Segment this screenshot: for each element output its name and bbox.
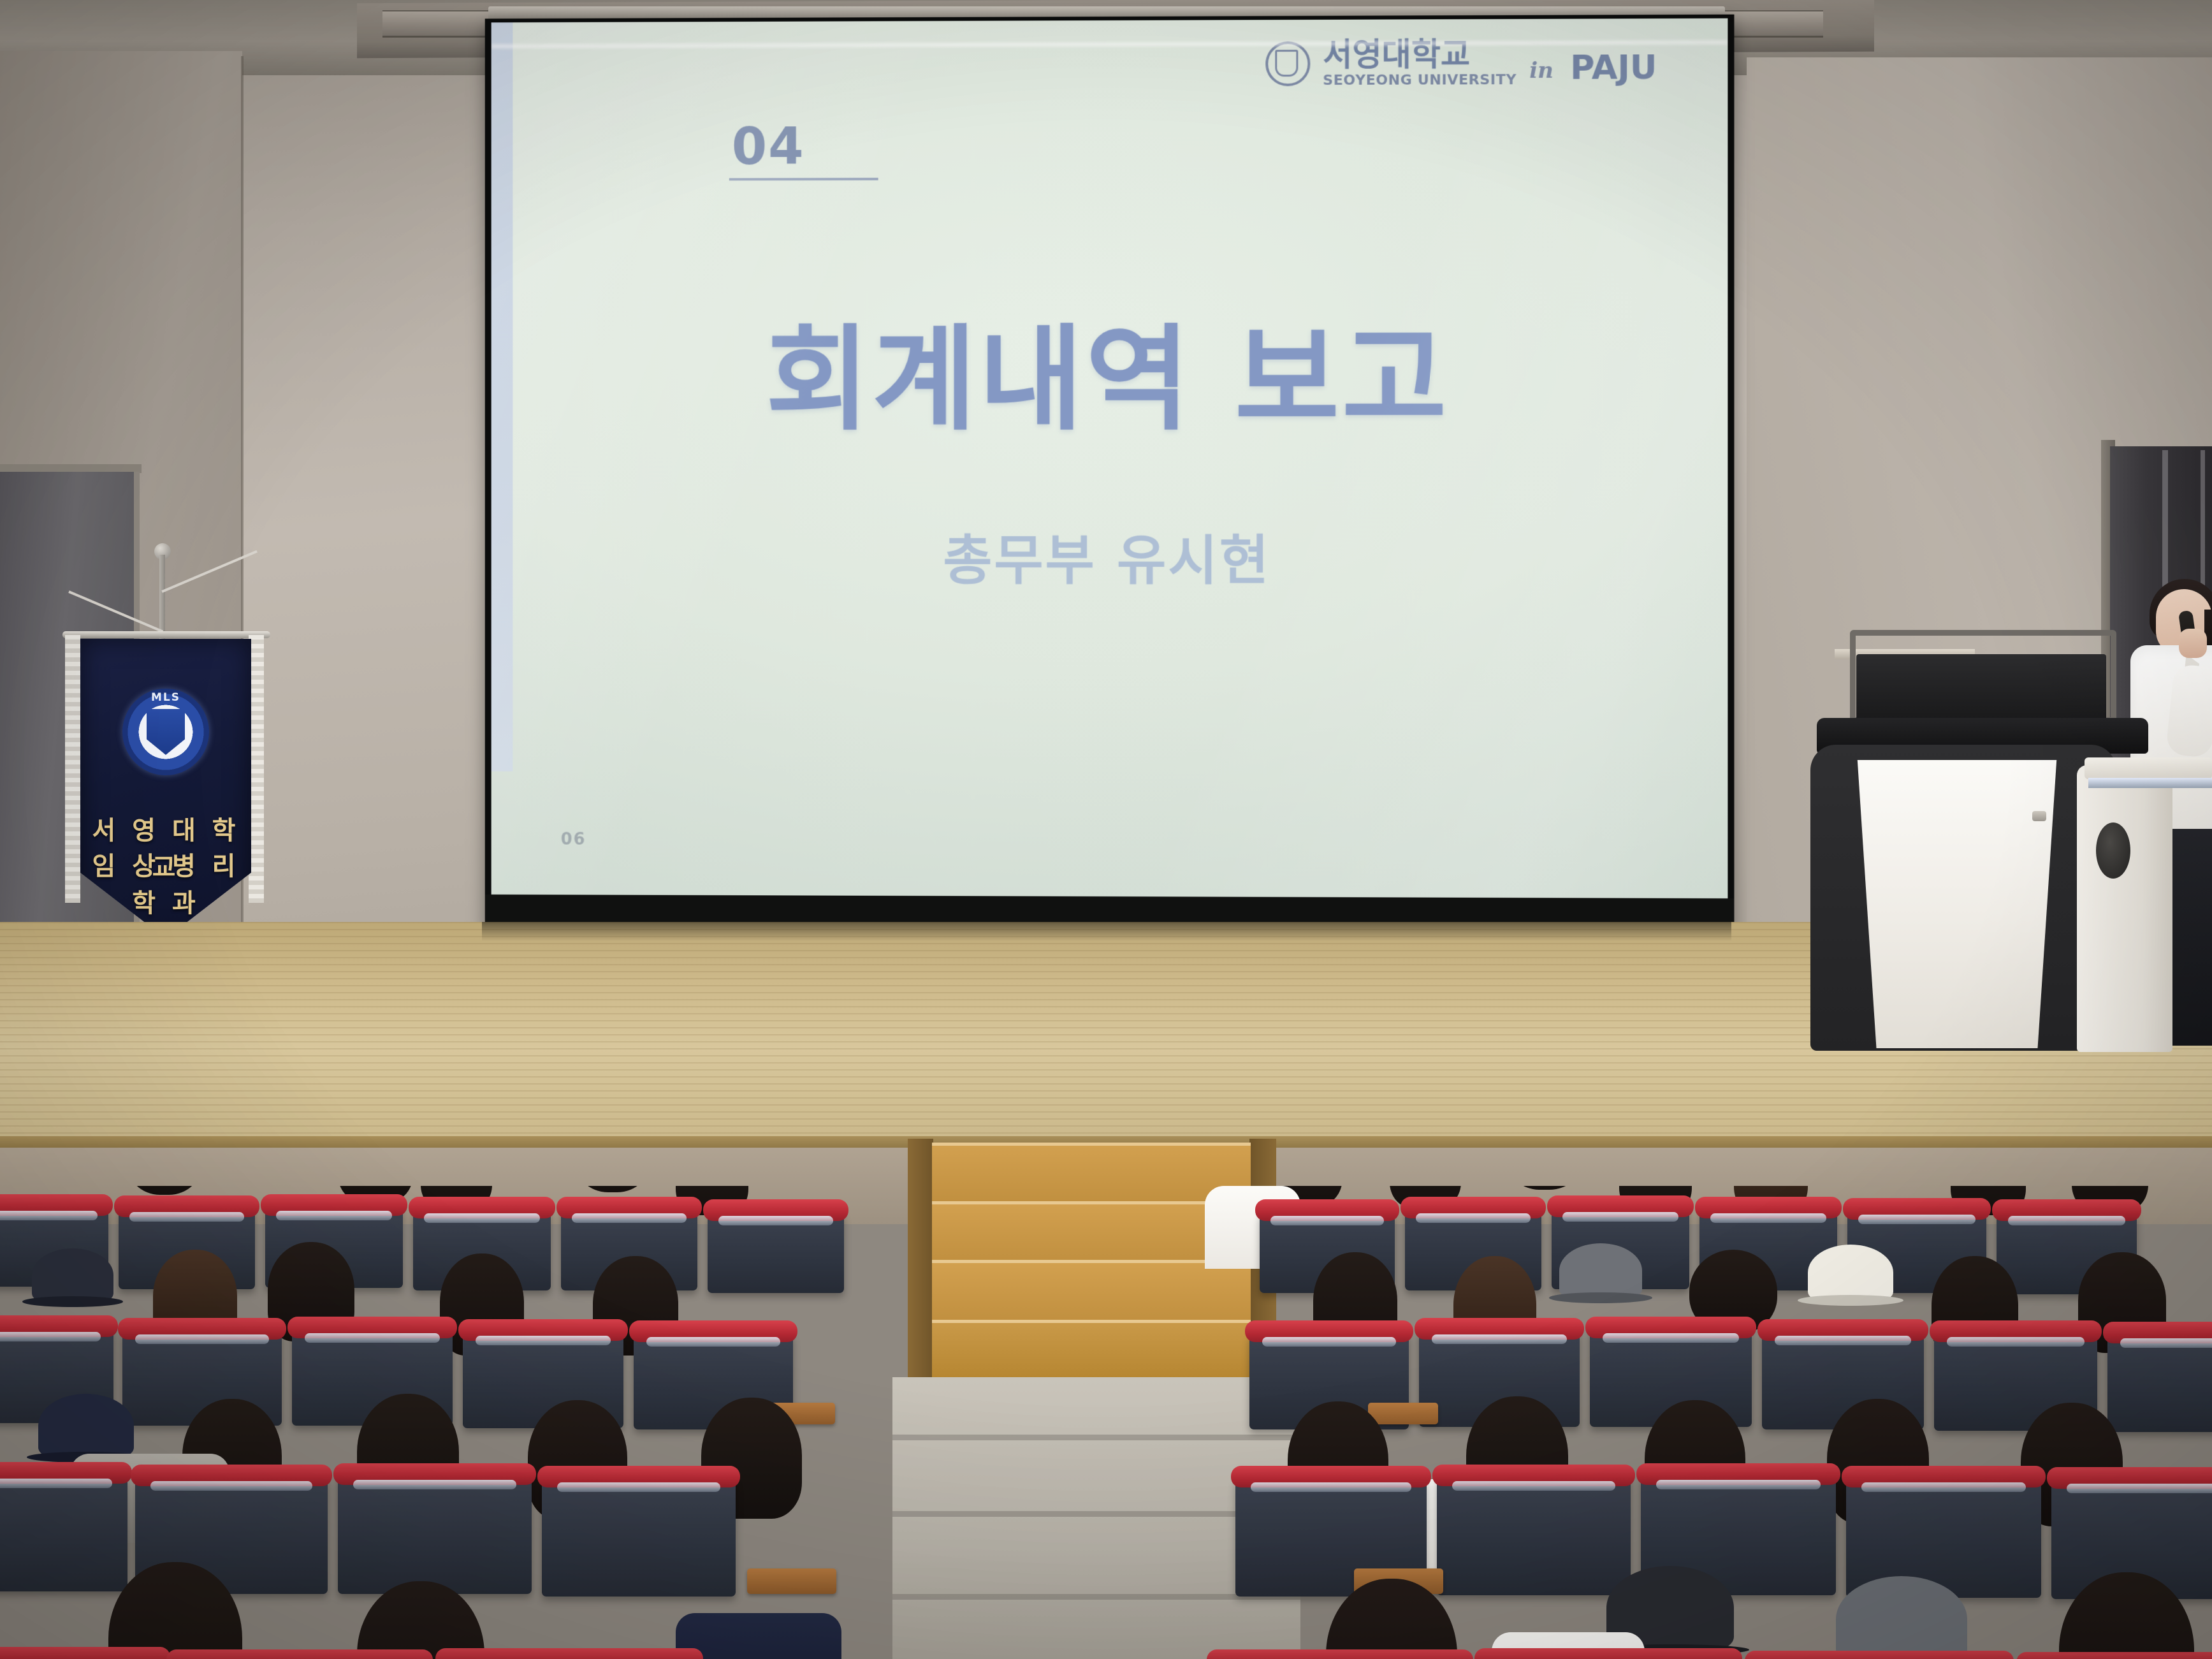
audience-seating [0,1186,2212,1659]
university-seal-icon [1265,41,1310,85]
pennant-rod [62,631,270,638]
seat[interactable] [2107,1333,2212,1432]
slide-section-rule [729,178,878,181]
armrest [747,1568,836,1594]
podium-desk-rail [2088,778,2212,788]
audience-head [126,1186,203,1195]
audience-head [1504,1186,1585,1190]
podium-area [1810,574,2212,1084]
seat[interactable] [1437,1475,1631,1595]
seat[interactable] [0,1473,127,1591]
slide-subtitle: 총무부 유시현 [491,518,1728,596]
screen-base-shadow [482,922,1731,941]
brand-english-name: SEOYEONG UNIVERSITY [1323,73,1517,88]
auditorium-photo-scene: 서영대학교 SEOYEONG UNIVERSITY in PAJU 04 회계내… [0,0,2212,1659]
seat[interactable] [708,1210,844,1293]
audience-cap-icon [38,1394,134,1458]
slide-surface: 서영대학교 SEOYEONG UNIVERSITY in PAJU 04 회계내… [491,18,1728,903]
audience-cap-icon [32,1248,113,1302]
audience-head [574,1186,651,1192]
podium-cutout [2096,822,2130,879]
wire-segment [161,550,258,593]
brand-campus: PAJU [1570,48,1657,87]
mls-emblem-icon: MLS [122,689,209,775]
pennant-line-2: 임 상 병 리 학 과 [80,845,251,919]
emblem-monogram: MLS [122,691,209,704]
brand-connector: in [1529,58,1553,84]
pennant-hanging-wire [57,590,274,635]
slide-section-number: 04 [732,117,805,176]
slide-page-number: 06 [561,830,586,849]
podium-front-panel [1838,760,2076,1048]
podium-side-column [2077,765,2172,1052]
projection-screen: 서영대학교 SEOYEONG UNIVERSITY in PAJU 04 회계내… [485,15,1735,932]
seat[interactable] [338,1474,532,1594]
seat[interactable] [542,1477,736,1597]
emblem-shield-icon [147,709,185,755]
podium-desk-surface [2085,757,2212,779]
slide-title: 회계내역 보고 [491,288,1728,453]
audience-cap-icon [1808,1245,1893,1301]
wire-segment [68,590,163,632]
audience-cap-icon [1559,1243,1642,1298]
armrest [1368,1403,1438,1424]
pennant-fringe [65,635,80,903]
audience-cap-icon [1836,1576,1967,1659]
podium-control-icon[interactable] [2032,811,2046,821]
presenter-hand [2179,629,2207,658]
screen-glare [491,18,1728,903]
